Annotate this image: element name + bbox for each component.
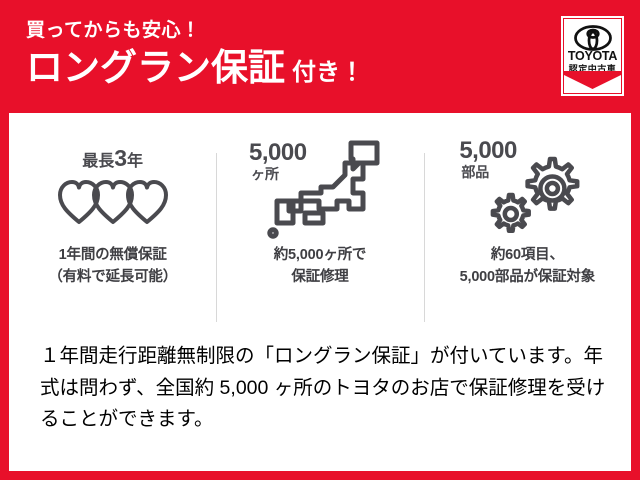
feature-caption: 1年間の無償保証 （有料で延長可能） bbox=[48, 245, 177, 289]
banner-header: 買ってからも安心！ ロングラン保証付き！ TOYOTA 認定中古車 bbox=[0, 0, 640, 112]
header-title-suffix: 付き！ bbox=[292, 59, 364, 86]
toyota-emblem-icon bbox=[564, 25, 621, 51]
header-title-main: ロングラン保証 bbox=[26, 47, 285, 88]
gears-icon bbox=[489, 153, 585, 239]
japan-map-cluster: 5,000 ヶ所 bbox=[245, 139, 395, 239]
caption-line: 約60項目、 bbox=[460, 245, 595, 267]
japan-map-icon bbox=[267, 139, 387, 239]
toyota-certified-logo: TOYOTA 認定中古車 bbox=[561, 16, 624, 96]
longrun-warranty-banner: 買ってからも安心！ ロングラン保証付き！ TOYOTA 認定中古車 bbox=[0, 0, 640, 480]
logo-frame: TOYOTA 認定中古車 bbox=[563, 18, 622, 94]
logo-chevron-shape bbox=[564, 71, 621, 93]
caption-line: 保証修理 bbox=[274, 267, 367, 289]
feature-caption: 約5,000ヶ所で 保証修理 bbox=[274, 245, 367, 289]
feature-columns: 最長3年 1年間の無償保証 （有料で延長可能） bbox=[9, 135, 631, 330]
logo-wordmark: TOYOTA bbox=[564, 49, 621, 63]
feature-caption: 約60項目、 5,000部品が保証対象 bbox=[460, 245, 595, 289]
header-eyebrow: 買ってからも安心！ bbox=[26, 20, 364, 43]
badge-suffix: 年 bbox=[127, 153, 143, 170]
three-hearts-cluster: 最長3年 bbox=[57, 147, 169, 231]
header-text-group: 買ってからも安心！ ロングラン保証付き！ bbox=[26, 20, 364, 88]
caption-line: 5,000部品が保証対象 bbox=[460, 267, 595, 289]
parts-badge-unit: 部品 bbox=[461, 165, 489, 179]
feature-service-locations: 5,000 ヶ所 bbox=[216, 135, 423, 330]
warranty-period-badge: 最長3年 bbox=[57, 147, 169, 170]
feature-covered-parts: 5,000 部品 bbox=[424, 135, 631, 330]
feature-warranty-period: 最長3年 1年間の無償保証 （有料で延長可能） bbox=[9, 135, 216, 330]
gears-cluster: 5,000 部品 bbox=[447, 139, 607, 239]
feature-icon-area: 最長3年 bbox=[9, 135, 216, 243]
badge-prefix: 最長 bbox=[82, 153, 114, 170]
content-panel: 最長3年 1年間の無償保証 （有料で延長可能） bbox=[9, 113, 631, 471]
header-title-line: ロングラン保証付き！ bbox=[26, 49, 364, 88]
caption-line: （有料で延長可能） bbox=[48, 267, 177, 289]
feature-icon-area: 5,000 部品 bbox=[424, 135, 631, 243]
feature-icon-area: 5,000 ヶ所 bbox=[216, 135, 423, 243]
badge-number: 3 bbox=[114, 145, 127, 171]
caption-line: 1年間の無償保証 bbox=[48, 245, 177, 267]
caption-line: 約5,000ヶ所で bbox=[274, 245, 367, 267]
body-paragraph: １年間走行距離無制限の「ロングラン保証」が付いています。年式は問わず、全国約 5… bbox=[40, 341, 612, 436]
three-hearts-icon bbox=[57, 174, 169, 226]
